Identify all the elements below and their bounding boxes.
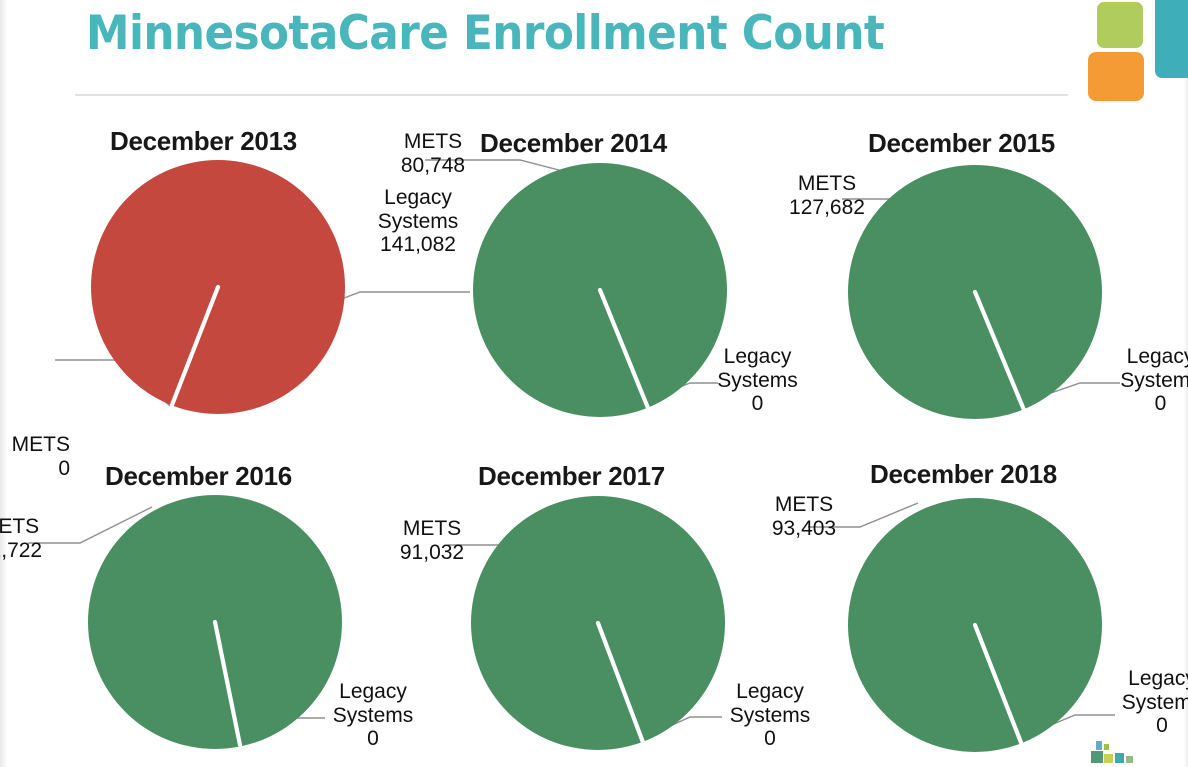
footer-blocks-icon: [1090, 741, 1136, 765]
data-label-mets: METS 91,032: [372, 517, 492, 564]
data-label-mets-name: METS: [0, 515, 70, 539]
pie-chart-december-2013: December 2013 METS 0: [0, 120, 400, 440]
data-label-legacy-name2: Systems: [1108, 369, 1188, 393]
orange-block-icon: [1088, 52, 1144, 101]
data-label-legacy-value: 0: [1108, 714, 1188, 738]
data-label-mets-value: 127,682: [762, 196, 892, 220]
green-block-icon: [1097, 2, 1143, 48]
pie-chart-december-2018: December 2018 METS 93,403 Legacy Systems…: [790, 455, 1188, 767]
slide-canvas: MinnesotaCare Enrollment Count December …: [0, 0, 1188, 767]
data-label-mets: METS 80,748: [378, 130, 488, 177]
data-label-mets-name: METS: [745, 493, 863, 517]
data-label-mets-name: METS: [762, 172, 892, 196]
teal-bar-icon: [1155, 0, 1188, 78]
data-label-legacy-name: Legacy: [1108, 667, 1188, 691]
data-label-mets: METS 127,682: [762, 172, 892, 219]
pie-chart-december-2014: December 2014 METS 80,748 Legacy Systems…: [400, 120, 800, 440]
pie-chart-december-2017: December 2017 METS 91,032 Legacy Systems…: [400, 455, 800, 767]
data-label-mets-value: 91,032: [372, 541, 492, 565]
pie-chart-december-2015: December 2015 METS 127,682 Legacy System…: [790, 120, 1188, 440]
data-label-mets-value: 80,748: [378, 154, 488, 178]
data-label-mets-name: METS: [0, 433, 70, 457]
data-label-legacy: Legacy Systems 0: [1108, 345, 1188, 416]
data-label-legacy-name: Legacy: [1108, 345, 1188, 369]
data-label-mets: METS 93,403: [745, 493, 863, 540]
data-label-legacy-name2: Systems: [1108, 691, 1188, 715]
data-label-legacy-value: 0: [1108, 392, 1188, 416]
data-label-mets-name: METS: [372, 517, 492, 541]
pie-chart-december-2016: December 2016 METS 92,722 Legacy Systems…: [0, 455, 400, 767]
data-label-mets-name: METS: [378, 130, 488, 154]
title-divider: [75, 94, 1068, 96]
data-label-legacy: Legacy Systems 0: [1108, 667, 1188, 738]
data-label-mets-value: 93,403: [745, 517, 863, 541]
pie-graphic: [0, 120, 400, 440]
data-label-mets: METS 92,722: [0, 515, 70, 562]
page-title: MinnesotaCare Enrollment Count: [86, 4, 884, 64]
data-label-mets-value: 92,722: [0, 539, 70, 563]
